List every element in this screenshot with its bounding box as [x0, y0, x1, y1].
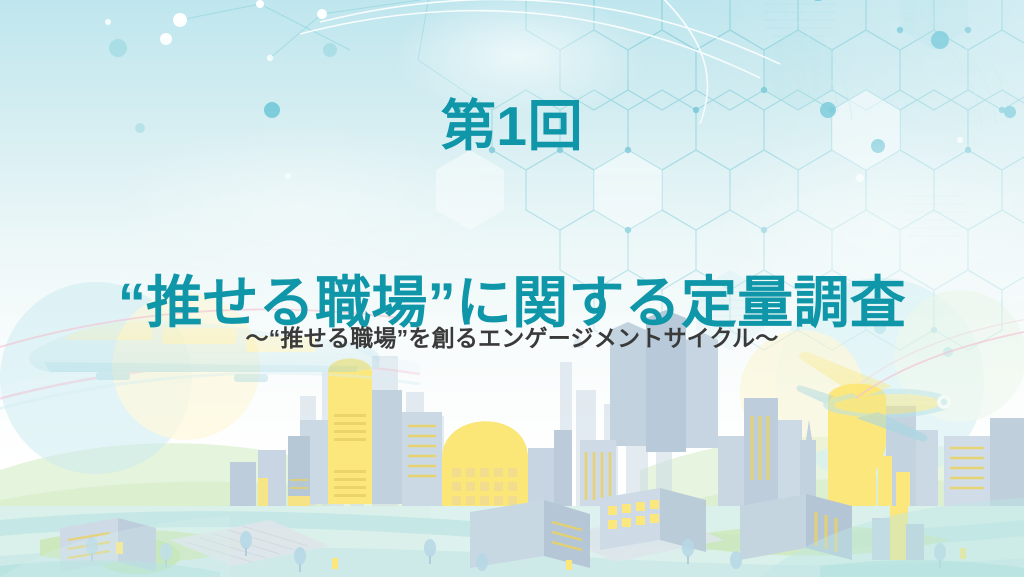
issue-number-label: 第1回 [0, 96, 1024, 157]
title-slide: 第1回 “推せる職場”に関する定量調査 〜“推せる職場”を創るエンゲージメントサ… [0, 0, 1024, 577]
page-subtitle: 〜“推せる職場”を創るエンゲージメントサイクル〜 [0, 324, 1024, 353]
